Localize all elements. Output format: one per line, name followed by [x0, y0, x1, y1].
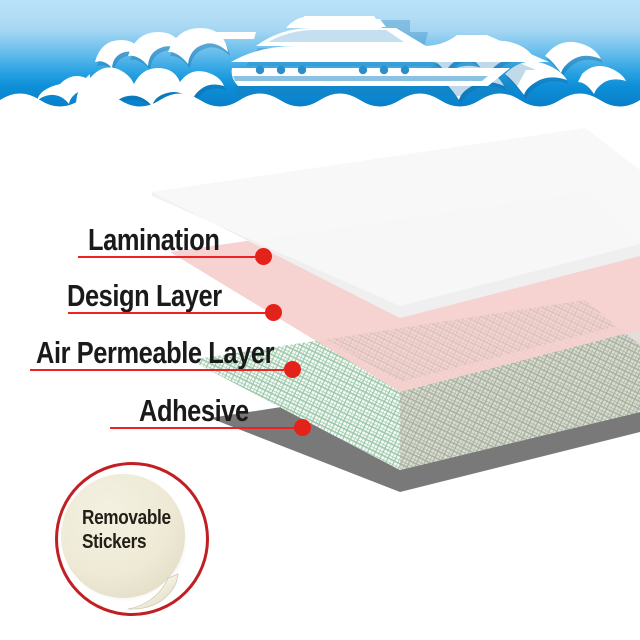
leader-line: [68, 312, 266, 314]
badge-line-1: Removable: [82, 507, 177, 531]
callout-dot[interactable]: [255, 248, 272, 265]
leader-line: [30, 369, 285, 371]
callout-label: Lamination: [88, 224, 219, 255]
callout-dot[interactable]: [294, 419, 311, 436]
callout-label: Air Permeable Layer: [36, 337, 274, 368]
removable-stickers-badge[interactable]: Removable Stickers: [55, 462, 215, 622]
callout-label: Design Layer: [67, 280, 222, 311]
leader-line: [110, 427, 295, 429]
callout-label: Adhesive: [139, 395, 249, 426]
badge-line-2: Stickers: [82, 531, 177, 555]
callout-dot[interactable]: [265, 304, 282, 321]
poster-root: Lamination Design Layer Air Permeable La…: [0, 0, 640, 640]
leader-line: [78, 256, 258, 258]
badge-text: Removable Stickers: [82, 507, 177, 554]
callout-dot[interactable]: [284, 361, 301, 378]
